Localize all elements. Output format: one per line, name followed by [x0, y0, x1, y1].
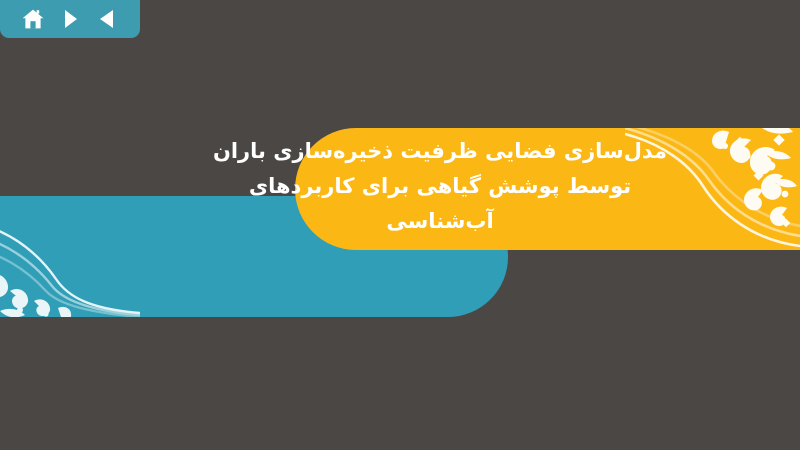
home-button[interactable]: [20, 6, 46, 32]
title-panel: [295, 128, 800, 250]
navigation-bar: [0, 0, 140, 38]
triangle-right-icon: [60, 8, 80, 30]
back-button[interactable]: [94, 6, 120, 32]
triangle-left-icon: [97, 8, 117, 30]
home-icon: [21, 7, 45, 31]
slide-canvas: مدل‌سازی فضایی ظرفیت ذخیره‌سازی باران تو…: [0, 0, 800, 450]
arabesque-corner-ornament: [625, 128, 800, 250]
arabesque-corner-ornament: [0, 207, 140, 317]
forward-button[interactable]: [57, 6, 83, 32]
